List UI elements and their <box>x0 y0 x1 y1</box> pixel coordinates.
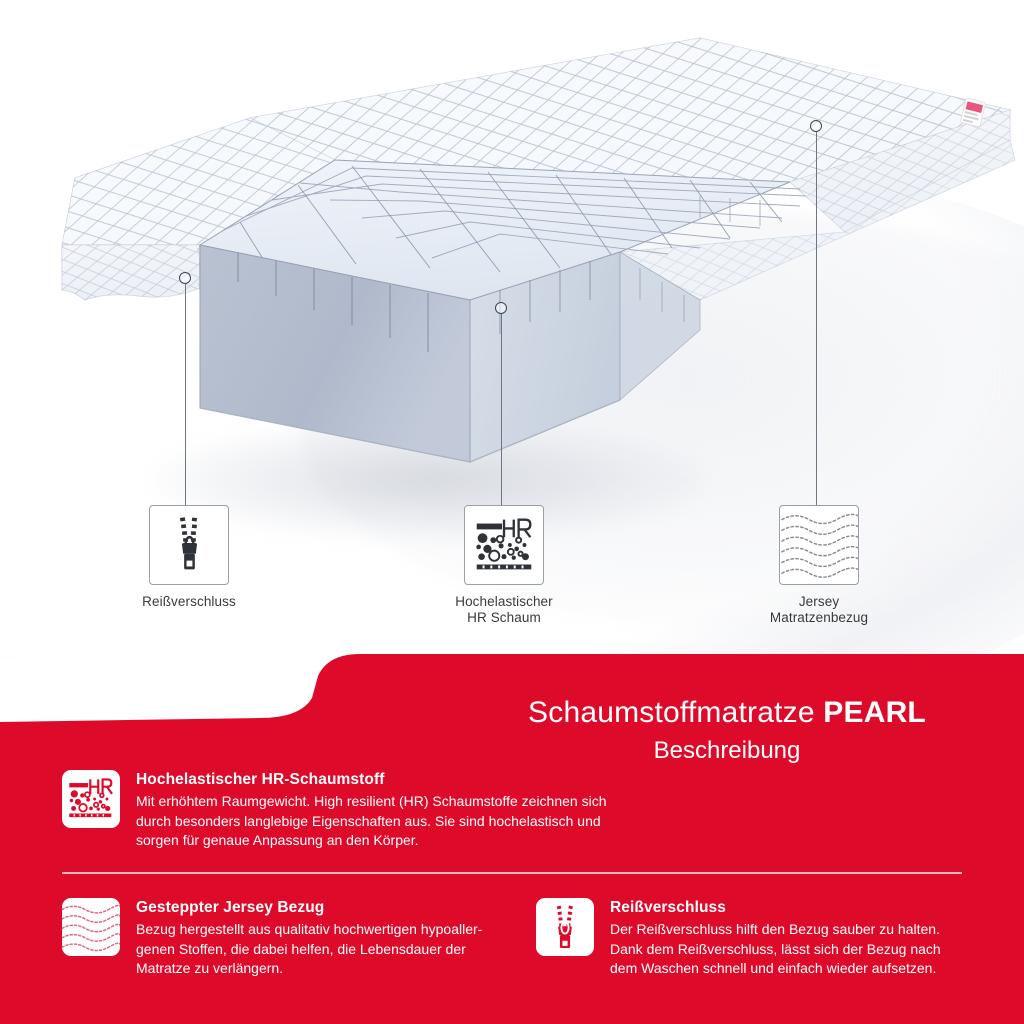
feature-zipper-heading: Reißverschluss <box>610 898 966 918</box>
feature-divider <box>62 872 962 874</box>
callout-marker-hr-foam[interactable] <box>495 302 507 314</box>
mattress-illustration <box>0 0 1024 520</box>
callout-label-hr-foam: Hochelastischer HR Schaum <box>424 594 584 626</box>
callout-leader-zipper <box>185 284 186 505</box>
callout-leader-jersey <box>816 132 817 505</box>
jersey-wave-icon <box>780 506 858 584</box>
feature-zipper-text: Reißverschluss Der Reißverschluss hilft … <box>610 898 966 979</box>
feature-hr-foam-body: Mit erhöhtem Raumgewicht. High resilient… <box>136 792 622 851</box>
callout-label-jersey: Jersey Matratzenbezug <box>739 594 899 626</box>
callout-marker-jersey[interactable] <box>810 120 822 132</box>
banner-title-bold: PEARL <box>823 696 926 729</box>
hr-foam-icon-tile <box>464 505 544 585</box>
feature-zipper: Reißverschluss Der Reißverschluss hilft … <box>536 898 966 979</box>
callout-hr-foam: Hochelastischer HR Schaum <box>424 505 584 626</box>
feature-hr-foam: Hochelastischer HR-Schaumstoff Mit erhöh… <box>62 770 622 851</box>
feature-jersey-body: Bezug hergestellt aus qualitativ hochwer… <box>136 920 492 979</box>
feature-hr-foam-text: Hochelastischer HR-Schaumstoff Mit erhöh… <box>136 770 622 851</box>
callout-marker-zipper[interactable] <box>179 272 191 284</box>
jersey-feature-icon-tile <box>62 898 120 956</box>
banner-subtitle: Beschreibung <box>430 736 1024 766</box>
jersey-icon-tile <box>779 505 859 585</box>
zipper-icon-tile <box>149 505 229 585</box>
callout-label-zipper: Reißverschluss <box>109 594 269 610</box>
feature-jersey-text: Gesteppter Jersey Bezug Bezug hergestell… <box>136 898 492 979</box>
feature-zipper-body: Der Reißverschluss hilft den Bezug saube… <box>610 920 966 979</box>
banner-title-regular: Schaumstoffmatratze <box>528 696 823 729</box>
zipper-icon <box>150 506 228 584</box>
zipper-icon <box>536 898 594 956</box>
zipper-feature-icon-tile <box>536 898 594 956</box>
feature-hr-foam-heading: Hochelastischer HR-Schaumstoff <box>136 770 622 790</box>
callout-leader-hr-foam <box>501 314 502 505</box>
product-image-area: Reißverschluss <box>0 0 1024 660</box>
hr-foam-icon <box>62 770 120 828</box>
hr-foam-icon <box>465 506 543 584</box>
callout-zipper: Reißverschluss <box>109 505 269 610</box>
hr-foam-feature-icon-tile <box>62 770 120 828</box>
feature-jersey-heading: Gesteppter Jersey Bezug <box>136 898 492 918</box>
product-infographic: Reißverschluss <box>0 0 1024 1024</box>
description-banner: Schaumstoffmatratze PEARL Beschreibung <box>0 640 1024 1024</box>
feature-jersey: Gesteppter Jersey Bezug Bezug hergestell… <box>62 898 492 979</box>
banner-title: Schaumstoffmatratze PEARL <box>430 695 1024 731</box>
jersey-wave-icon <box>62 898 120 956</box>
callout-jersey: Jersey Matratzenbezug <box>739 505 899 626</box>
banner-content: Schaumstoffmatratze PEARL Beschreibung <box>0 640 1024 1024</box>
